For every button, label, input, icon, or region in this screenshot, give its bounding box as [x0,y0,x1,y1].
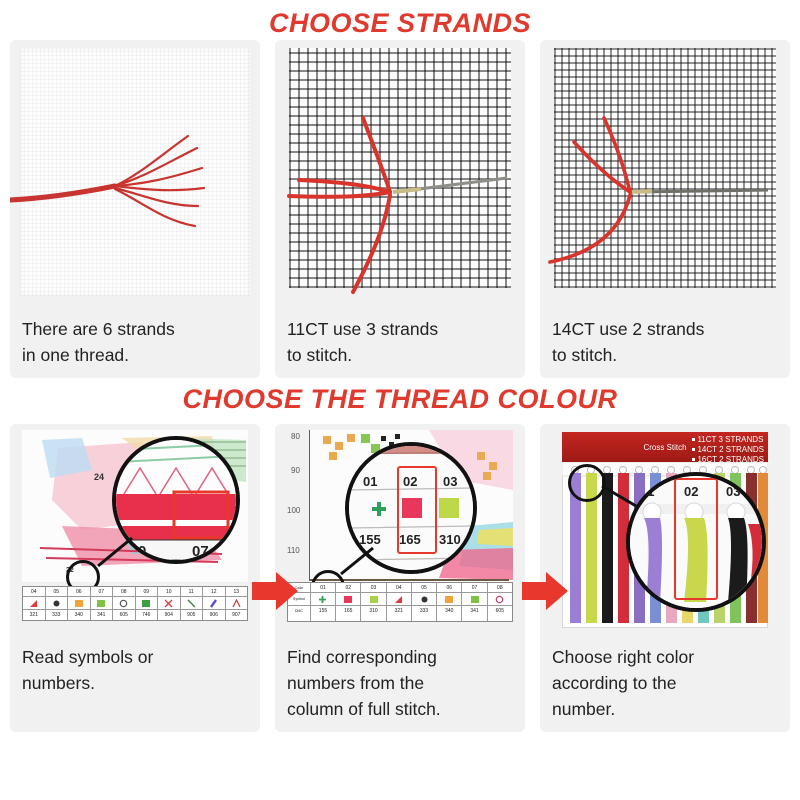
legend-code: 06 [437,583,461,593]
legend-code: 11 [181,587,203,597]
legend-column: 08 605 [488,583,512,621]
legend-dmc: 340 [68,610,90,620]
legend-dmc: 746 [136,610,158,620]
colour-card-row: 24 22 07 [0,424,800,732]
caption-line: numbers. [22,670,248,696]
legend-symbol-backslash [181,597,203,610]
caption-line: column of full stitch. [287,696,513,722]
floss-six-strands-illustration [10,40,260,308]
caption-line: 14CT use 2 strands [552,316,778,342]
needle-three-strands-illustration [275,40,525,308]
legend-dmc: 905 [181,610,203,620]
legend-column: 07 341 [462,583,487,621]
highlight-box-thread-02 [674,478,718,600]
legend-symbol-triangle [23,597,45,610]
legend-code: 04 [23,587,45,597]
legend-code: 08 [113,587,135,597]
card-image-read-symbols: 24 22 07 [10,424,260,636]
legend-symbol-circle [488,593,512,606]
legend-dmc: 605 [113,610,135,620]
section-title-choose-strands: CHOOSE STRANDS [0,0,800,40]
caption-line: in one thread. [22,342,248,368]
legend-dmc: 333 [46,610,68,620]
legend-dmc: 340 [437,606,461,616]
legend-code: 01 [311,583,335,593]
strands-card-row: There are 6 strands in one thread. 11CT … [0,40,800,378]
legend-dmc: 341 [462,606,486,616]
legend-code: 10 [158,587,180,597]
legend-column: 01 155 [311,583,336,621]
legend-column: 05 333 [412,583,437,621]
legend-symbol-green-filled-square [136,597,158,610]
legend-symbol-orange-square [437,593,461,606]
legend-code: 04 [387,583,411,593]
legend-symbol-green-cross [311,593,335,606]
card-14ct: 14CT use 2 strands to stitch. [540,40,790,378]
legend-dmc: 904 [158,610,180,620]
legend-dmc: 155 [311,606,335,616]
legend-symbol-dot [46,597,68,610]
legend-column: 10 904 [158,587,181,620]
caption-six-strands: There are 6 strands in one thread. [10,308,260,378]
caption-find-numbers: Find corresponding numbers from the colu… [275,636,525,732]
legend-dmc: 333 [412,606,436,616]
legend-column: 05 333 [46,587,69,620]
legend-dmc: 341 [91,610,113,620]
legend-symbol-green-square [91,597,113,610]
legend-code: 13 [226,587,248,597]
card-six-strands: There are 6 strands in one thread. [10,40,260,378]
legend-column: 03 310 [361,583,386,621]
legend-column: 12 906 [203,587,226,620]
caption-line: Choose right color [552,644,778,670]
needle-two-strands-illustration [540,40,790,308]
legend-column: 11 905 [181,587,204,620]
card-image-14ct [540,40,790,308]
legend-code: 08 [488,583,512,593]
card-image-11ct [275,40,525,308]
legend-column: 02 165 [336,583,361,621]
card-choose-color: Cross Stitch 11CT 3 STRANDS 14CT 2 STRAN… [540,424,790,732]
legend-dmc: 906 [203,610,225,620]
card-read-symbols: 24 22 07 [10,424,260,732]
zoom-code: 01 [640,484,654,499]
legend-dmc: 321 [387,606,411,616]
caption-line: Read symbols or [22,644,248,670]
legend-code: 02 [336,583,360,593]
caption-line: to stitch. [287,342,513,368]
legend-code: 03 [361,583,385,593]
arrow-right-icon-2 [522,570,568,612]
legend-code: 06 [68,587,90,597]
legend-symbol-red-square [336,593,360,606]
card-find-numbers: 80 90 100 110 01 02 03 155 [275,424,525,732]
number-legend-table: Code Symbol DMC 01 155 02 165 [287,582,513,622]
card-image-six-strands [10,40,260,308]
legend-code: 05 [46,587,68,597]
legend-dmc: 165 [336,606,360,616]
legend-symbol-orange-square [68,597,90,610]
legend-symbol-caret [226,597,248,610]
legend-code: 09 [136,587,158,597]
arrow-right-icon-1 [252,570,298,612]
symbol-legend-table: 04 321 05 333 06 [22,586,248,621]
legend-symbol-green-square [361,593,385,606]
legend-code: 07 [91,587,113,597]
caption-choose-color: Choose right color according to the numb… [540,636,790,732]
zoom-code: 03 [726,484,740,499]
caption-line: 11CT use 3 strands [287,316,513,342]
section-title-choose-thread-colour: CHOOSE THE THREAD COLOUR [0,380,800,418]
legend-column: 08 605 [113,587,136,620]
legend-column: 09 746 [136,587,159,620]
legend-symbol-circle [113,597,135,610]
caption-line: numbers from the [287,670,513,696]
card-image-find-numbers: 80 90 100 110 01 02 03 155 [275,424,525,636]
card-11ct: 11CT use 3 strands to stitch. [275,40,525,378]
legend-dmc: 605 [488,606,512,616]
legend-symbol-x-cross [158,597,180,610]
legend-column: 06 340 [437,583,462,621]
legend-code: 07 [462,583,486,593]
legend-symbol-triangle [387,593,411,606]
caption-line: There are 6 strands [22,316,248,342]
caption-11ct: 11CT use 3 strands to stitch. [275,308,525,378]
magnifier-loupe-thread: 01 02 03 [626,472,766,612]
legend-column: 06 340 [68,587,91,620]
legend-column: 13 907 [226,587,248,620]
legend-column: 04 321 [23,587,46,620]
caption-line: Find corresponding [287,644,513,670]
legend-dmc: 310 [361,606,385,616]
caption-read-symbols: Read symbols or numbers. [10,636,260,706]
legend-code: 12 [203,587,225,597]
legend-dmc: 321 [23,610,45,620]
legend-symbol-slash-filled [203,597,225,610]
caption-14ct: 14CT use 2 strands to stitch. [540,308,790,378]
caption-line: according to the [552,670,778,696]
legend-code: 05 [412,583,436,593]
legend-symbol-dot [412,593,436,606]
legend-column: 07 341 [91,587,114,620]
caption-line: to stitch. [552,342,778,368]
caption-line: number. [552,696,778,722]
card-image-choose-color: Cross Stitch 11CT 3 STRANDS 14CT 2 STRAN… [540,424,790,636]
legend-column: 04 321 [387,583,412,621]
legend-symbol-green-square [462,593,486,606]
legend-dmc: 907 [226,610,248,620]
